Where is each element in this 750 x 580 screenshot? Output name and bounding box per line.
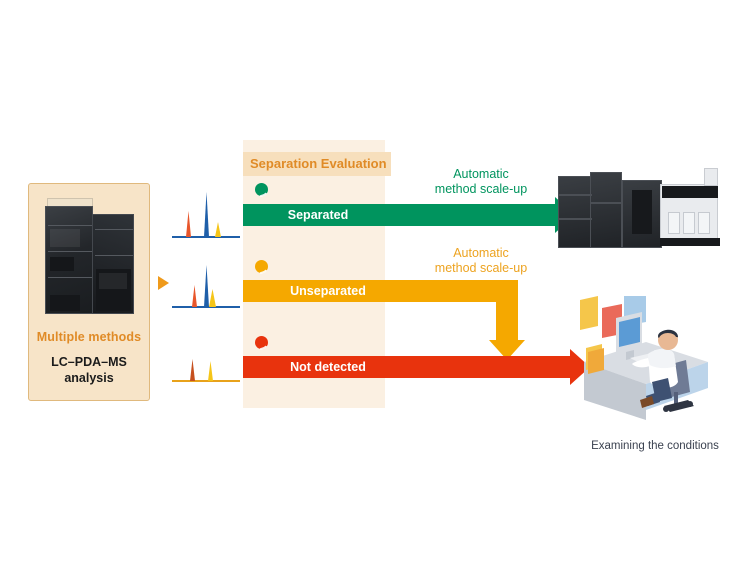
instrument-module-left: [45, 206, 93, 314]
chromatogram-peak: [190, 359, 195, 381]
caption-scale-up-green-line1: Automatic: [406, 167, 556, 182]
methods-card-subtitle-line1: LC–PDA–MS: [29, 354, 149, 370]
chromatogram-peak: [192, 285, 197, 307]
status-dot-not-detected: [255, 336, 268, 349]
diagram-canvas: Multiple methods LC–PDA–MS analysis Sepa…: [0, 0, 750, 580]
caption-scale-up-orange-line2: method scale-up: [406, 261, 556, 276]
methods-card-title: Multiple methods: [29, 330, 149, 344]
chromatogram-peak: [215, 222, 221, 237]
examining-conditions-caption: Examining the conditions: [560, 440, 750, 452]
caption-scale-up-green-line2: method scale-up: [406, 182, 556, 197]
examining-conditions-illustration: [578, 296, 728, 428]
lc-instrument-photo: [45, 198, 135, 314]
separation-evaluation-header-label: Separation Evaluation: [243, 152, 391, 176]
arrow-separated: Separated: [243, 204, 573, 226]
caption-scale-up-green: Automatic method scale-up: [406, 167, 556, 197]
desk-scene-svg: [578, 296, 728, 428]
chromatogram-unseparated: [172, 258, 244, 312]
chromatogram-peak: [204, 265, 209, 307]
chromatogram-peak: [208, 361, 213, 381]
chromatogram-peak: [186, 211, 191, 237]
flow-triangle-icon: [158, 276, 169, 290]
multiple-methods-card: Multiple methods LC–PDA–MS analysis: [28, 183, 150, 401]
methods-card-subtitle: LC–PDA–MS analysis: [29, 354, 149, 386]
lcms-instrument-photo: [556, 168, 724, 250]
arrow-not-detected: Not detected: [243, 356, 588, 378]
arrow-label-not-detected: Not detected: [243, 356, 413, 378]
caption-scale-up-orange-line1: Automatic: [406, 246, 556, 261]
status-dot-separated: [255, 183, 268, 196]
chromatogram-separated: [172, 188, 244, 242]
instrument-module-right: [92, 214, 134, 314]
chromatogram-baseline: [172, 380, 240, 382]
status-dot-unseparated: [255, 260, 268, 273]
chromatogram-peak: [204, 192, 209, 237]
arrow-label-separated: Separated: [243, 204, 393, 226]
caption-scale-up-orange: Automatic method scale-up: [406, 246, 556, 276]
chromatogram-not-detected: [172, 332, 244, 386]
arrow-label-unseparated: Unseparated: [243, 280, 413, 302]
methods-card-subtitle-line2: analysis: [29, 370, 149, 386]
separation-evaluation-header: Separation Evaluation: [243, 152, 391, 176]
chromatogram-peak: [209, 289, 216, 307]
